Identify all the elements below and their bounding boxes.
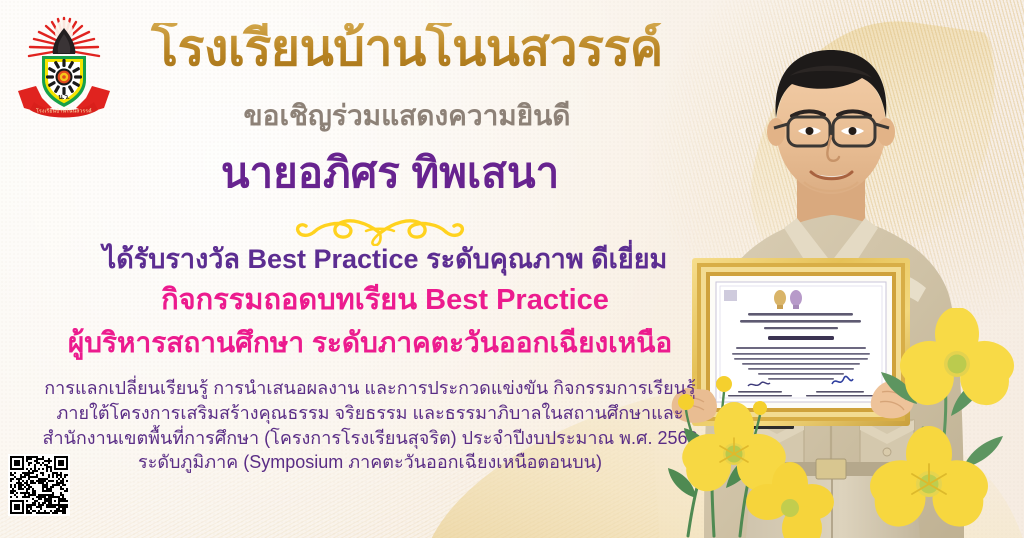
qr-code[interactable] [8,454,70,516]
region-line: ผู้บริหารสถานศึกษา ระดับภาคตะวันออกเฉียง… [20,327,720,359]
gold-swoosh-top-right [742,3,1005,283]
detail-paragraph: การแลกเปลี่ยนเรียนรู้ การนำเสนอผลงาน และ… [20,376,720,475]
flourish-icon [270,212,490,246]
yellow-flowers-center [640,348,840,538]
detail-line-4: ระดับภูมิภาค (Symposium ภาคตะวันออกเฉียง… [20,450,720,475]
detail-line-3: สำนักงานเขตพื้นที่การศึกษา (โครงการโรงเร… [20,426,720,451]
detail-line-1: การแลกเปลี่ยนเรียนรู้ การนำเสนอผลงาน และ… [20,376,720,401]
text-content-column: โรงเรียนบ้านโนนสวรรค์ ขอเชิญร่วมแสดงความ… [0,0,724,538]
congratulations-banner: น.ว. โรงเรียนบ้านโนนสวรรค์ [0,0,1024,538]
qr-code-icon[interactable] [10,456,68,514]
yellow-flowers-right [859,308,1024,538]
flower-cluster-icon [640,348,840,538]
activity-line: กิจกรรมถอดบทเรียน Best Practice [40,284,730,317]
honoree-name: นายอภิศร ทิพเสนา [60,150,720,196]
flower-cluster-right-icon [859,308,1024,538]
award-line: ได้รับรางวัล Best Practice ระดับคุณภาพ ด… [40,244,730,275]
school-title: โรงเรียนบ้านโนนสวรรค์ [92,23,722,73]
invitation-subtitle: ขอเชิญร่วมแสดงความยินดี [92,100,722,132]
detail-line-2: ภายใต้โครงการเสริมสร้างคุณธรรม จริยธรรม … [20,401,720,426]
gold-flourish-ornament [270,212,490,246]
